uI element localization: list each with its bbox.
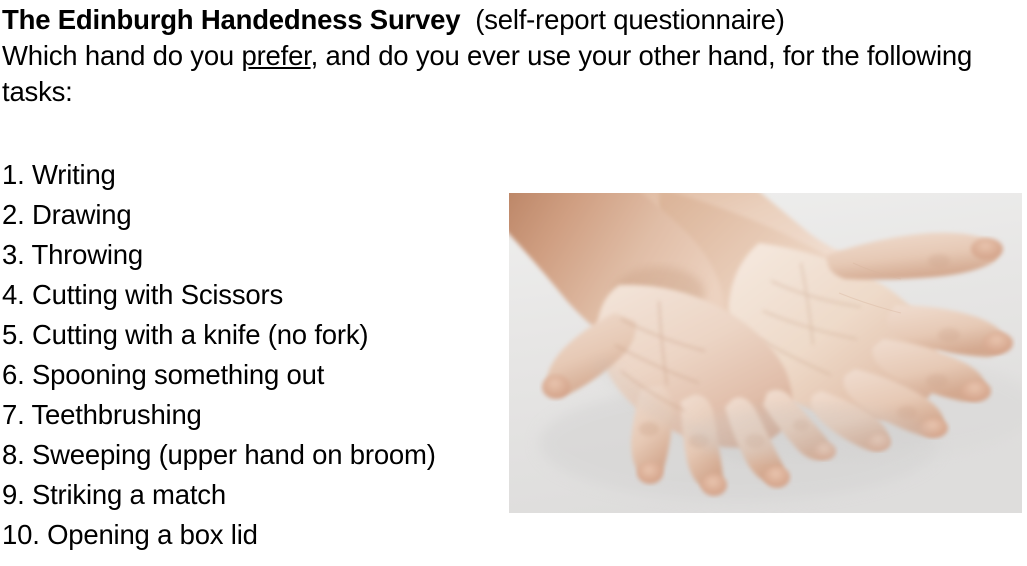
list-item: 4. Cutting with Scissors	[2, 275, 502, 315]
survey-title: The Edinburgh Handedness Survey	[2, 4, 460, 35]
question-text-lead: Which hand do you	[2, 40, 241, 71]
hands-photo	[509, 193, 1022, 513]
question-emphasis-prefer: prefer	[241, 40, 310, 71]
list-item: 1. Writing	[2, 155, 502, 195]
survey-question: Which hand do you prefer, and do you eve…	[2, 38, 987, 110]
slide-canvas: The Edinburgh Handedness Survey (self-re…	[0, 0, 1027, 566]
list-item: 5. Cutting with a knife (no fork)	[2, 315, 502, 355]
list-item: 10. Opening a box lid	[2, 515, 502, 555]
task-list: 1. Writing 2. Drawing 3. Throwing 4. Cut…	[2, 155, 502, 555]
survey-title-line: The Edinburgh Handedness Survey (self-re…	[2, 2, 1012, 38]
header-block: The Edinburgh Handedness Survey (self-re…	[2, 2, 1012, 110]
list-item: 6. Spooning something out	[2, 355, 502, 395]
list-item: 3. Throwing	[2, 235, 502, 275]
list-item: 8. Sweeping (upper hand on broom)	[2, 435, 502, 475]
survey-title-parenthetical: (self-report questionnaire)	[475, 4, 784, 35]
list-item: 7. Teethbrushing	[2, 395, 502, 435]
hands-photo-graphic	[509, 193, 1022, 513]
list-item: 2. Drawing	[2, 195, 502, 235]
list-item: 9. Striking a match	[2, 475, 502, 515]
